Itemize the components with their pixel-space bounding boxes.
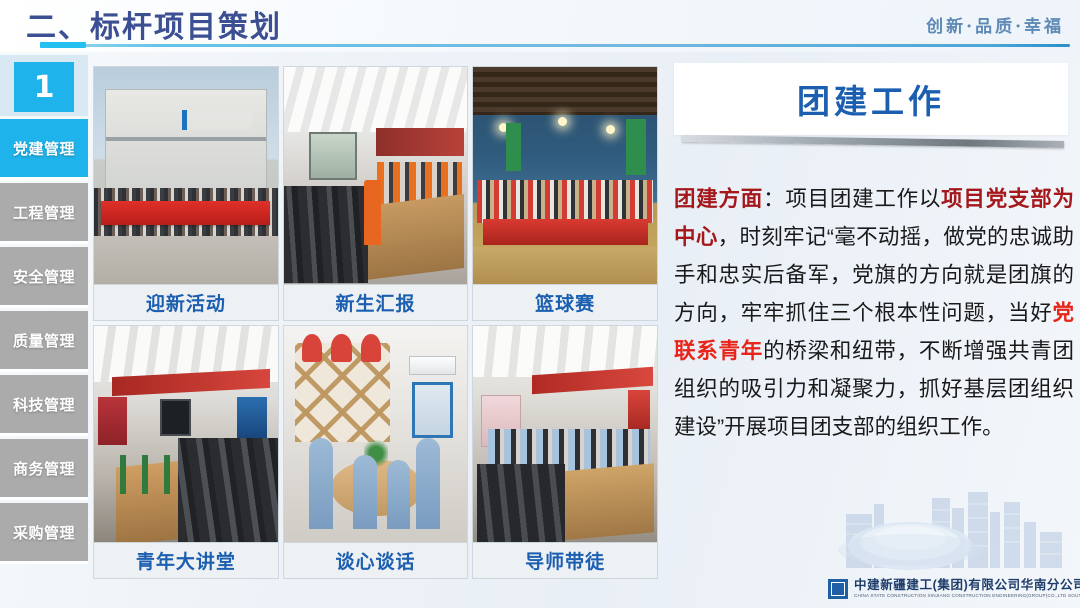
photo-card[interactable]: 篮球赛	[472, 66, 658, 321]
panel-body-segment-1: ：项目团建工作以	[763, 187, 941, 211]
photo-image-basketball-game	[473, 67, 657, 284]
header-divider-cap	[40, 42, 86, 48]
sidebar-item-label: 安全管理	[13, 266, 75, 287]
sidebar-item-label: 采购管理	[13, 522, 75, 543]
header-divider	[40, 44, 1070, 47]
panel-body-text: 团建方面：项目团建工作以项目党支部为中心，时刻牢记“毫不动摇，做党的忠诚助手和忠…	[674, 180, 1074, 446]
sidebar-item-technology-management[interactable]: 科技管理	[0, 375, 88, 436]
photo-card[interactable]: 导师带徒	[472, 325, 658, 580]
sidebar-item-label: 工程管理	[13, 202, 75, 223]
page-title: 二、标杆项目策划	[26, 2, 282, 46]
sidebar-item-label: 科技管理	[13, 394, 75, 415]
slide-header: 二、标杆项目策划 创新·品质·幸福	[0, 0, 1080, 52]
header-slogan: 创新·品质·幸福	[926, 12, 1064, 37]
company-logo-icon	[828, 579, 848, 599]
photo-caption: 迎新活动	[94, 284, 278, 320]
photo-image-welcome-event	[94, 67, 278, 284]
panel-title-card: 团建工作	[674, 63, 1068, 135]
sidebar-nav: 1 党建管理 工程管理 安全管理 质量管理 科技管理 商务管理 采购管理	[0, 55, 88, 608]
photo-card[interactable]: 青年大讲堂	[93, 325, 279, 580]
photo-image-youth-lecture-hall	[94, 326, 278, 543]
photo-caption: 谈心谈话	[284, 542, 468, 578]
sidebar-badge-cell: 1	[0, 55, 88, 116]
sidebar-item-label: 质量管理	[13, 330, 75, 351]
sidebar-item-label: 商务管理	[13, 458, 75, 479]
company-logo: 中建新疆建工(集团)有限公司华南分公司 CHINA STATE CONSTRUC…	[828, 576, 1074, 602]
photo-caption: 青年大讲堂	[94, 542, 278, 578]
photo-card[interactable]: 谈心谈话	[283, 325, 469, 580]
panel-title: 团建工作	[797, 75, 945, 123]
photo-image-mentorship	[473, 326, 657, 543]
photo-grid: 迎新活动 新生汇报	[93, 66, 658, 579]
sidebar-item-engineering-management[interactable]: 工程管理	[0, 183, 88, 244]
skyline-watermark	[828, 488, 1080, 580]
photo-card[interactable]: 新生汇报	[283, 66, 469, 321]
sidebar-item-procurement-management[interactable]: 采购管理	[0, 503, 88, 564]
photo-caption: 导师带徒	[473, 542, 657, 578]
sidebar-item-label: 党建管理	[13, 138, 75, 159]
panel-body-segment-3: ，时刻牢记“毫不动摇，做党的忠诚助手和忠实后备军，党旗的方向就是团旗的方向，牢牢…	[674, 225, 1074, 325]
company-name-cn: 中建新疆建工(集团)有限公司华南分公司	[854, 579, 1080, 592]
photo-card[interactable]: 迎新活动	[93, 66, 279, 321]
sidebar-item-party-management[interactable]: 党建管理	[0, 119, 88, 180]
sidebar-item-safety-management[interactable]: 安全管理	[0, 247, 88, 308]
slide-root: 二、标杆项目策划 创新·品质·幸福 1 党建管理 工程管理 安全管理 质量管理 …	[0, 0, 1080, 608]
photo-caption: 新生汇报	[284, 284, 468, 320]
photo-caption: 篮球赛	[473, 284, 657, 320]
panel-title-underline	[682, 135, 1064, 148]
photo-image-heart-to-heart-talk	[284, 326, 468, 543]
panel-body-segment-0: 团建方面	[674, 187, 763, 211]
photo-image-freshman-report	[284, 67, 468, 284]
sidebar-item-quality-management[interactable]: 质量管理	[0, 311, 88, 372]
section-number-badge: 1	[14, 62, 74, 112]
sidebar-item-commerce-management[interactable]: 商务管理	[0, 439, 88, 500]
company-name-en: CHINA STATE CONSTRUCTION XINJIANG CONSTR…	[854, 594, 1080, 599]
